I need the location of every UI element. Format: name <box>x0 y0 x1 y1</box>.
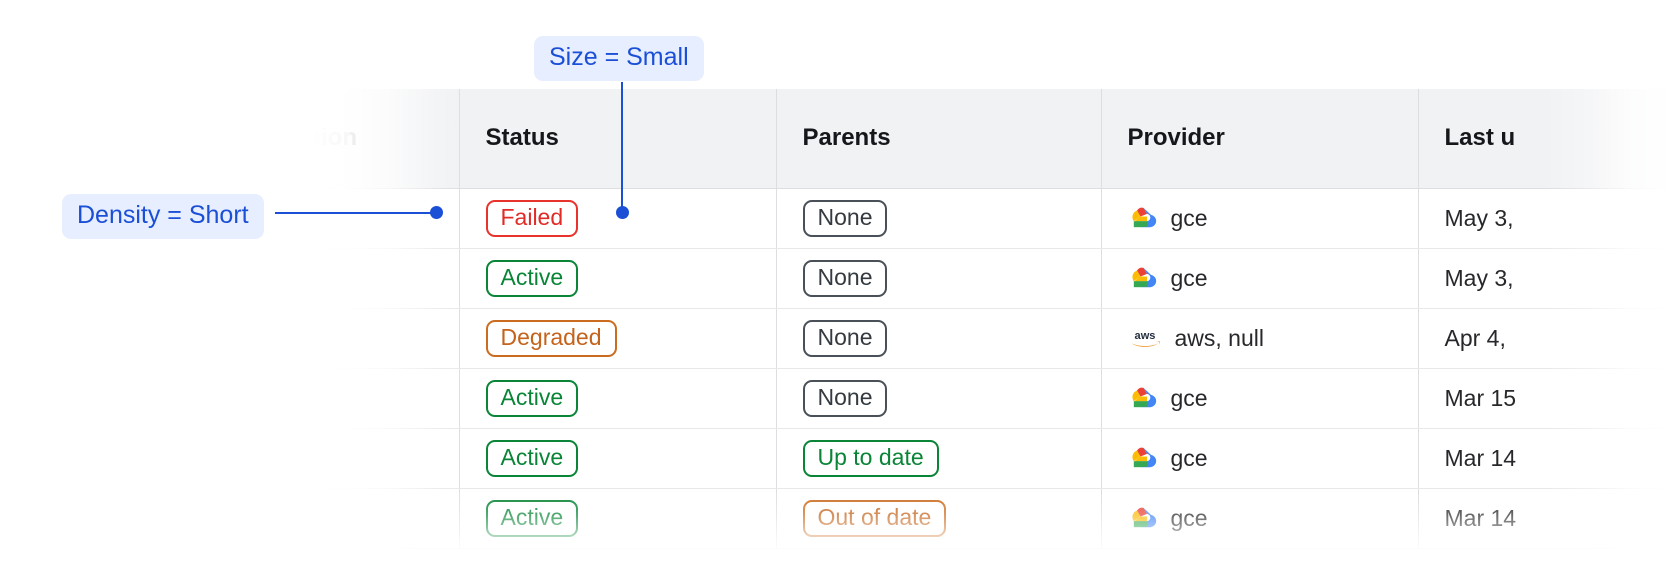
column-header-last-updated[interactable]: Last u <box>1418 89 1672 188</box>
google-cloud-icon <box>1128 265 1158 291</box>
table-row[interactable]: Failed None <box>313 188 1672 248</box>
annotation-density-leader-line <box>275 212 433 214</box>
annotation-size-label: Size = Small <box>534 36 704 81</box>
cell-parents: Out of date <box>776 488 1101 548</box>
cell-provider: gce <box>1101 488 1418 548</box>
parents-badge: Out of date <box>803 500 947 537</box>
cell-last-updated: May 3, <box>1418 188 1672 248</box>
table-row[interactable]: Active None <box>313 368 1672 428</box>
resources-table: tion Status Parents Provider Last u Fail… <box>313 89 1672 549</box>
google-cloud-icon <box>1128 205 1158 231</box>
cell-name <box>313 488 459 548</box>
cell-last-updated: Apr 4, <box>1418 308 1672 368</box>
cell-name <box>313 248 459 308</box>
cell-last-updated: Mar 15 <box>1418 368 1672 428</box>
left-white-mask <box>0 0 313 564</box>
last-updated-value: May 3, <box>1445 265 1514 291</box>
provider-label: gce <box>1171 505 1208 532</box>
column-header-name[interactable]: tion <box>313 89 459 188</box>
column-header-status[interactable]: Status <box>459 89 776 188</box>
top-white-mask <box>0 0 1672 89</box>
cell-provider: aws aws, null <box>1101 308 1418 368</box>
column-header-parents[interactable]: Parents <box>776 89 1101 188</box>
cell-parents: None <box>776 248 1101 308</box>
annotation-density-label: Density = Short <box>62 194 264 239</box>
status-badge: Active <box>486 500 579 537</box>
cell-name <box>313 428 459 488</box>
provider-label: aws, null <box>1175 325 1264 352</box>
provider-label: gce <box>1171 205 1208 232</box>
annotation-size-leader-line <box>621 82 623 208</box>
status-badge: Degraded <box>486 320 617 357</box>
google-cloud-icon <box>1128 445 1158 471</box>
cell-name <box>313 368 459 428</box>
provider-label: gce <box>1171 385 1208 412</box>
cell-status: Active <box>459 428 776 488</box>
parents-badge: None <box>803 200 888 237</box>
cell-status: Active <box>459 368 776 428</box>
column-header-provider[interactable]: Provider <box>1101 89 1418 188</box>
parents-badge: None <box>803 260 888 297</box>
cell-status: Active <box>459 488 776 548</box>
status-badge: Failed <box>486 200 579 237</box>
cell-name <box>313 308 459 368</box>
last-updated-value: Mar 14 <box>1445 445 1517 471</box>
data-table-viewport[interactable]: tion Status Parents Provider Last u Fail… <box>313 89 1672 564</box>
last-updated-value: Mar 14 <box>1445 505 1517 531</box>
status-badge: Active <box>486 440 579 477</box>
table-row[interactable]: Degraded None aws aws, null <box>313 308 1672 368</box>
parents-badge: None <box>803 320 888 357</box>
cell-provider: gce <box>1101 428 1418 488</box>
provider-label: gce <box>1171 265 1208 292</box>
google-cloud-icon <box>1128 505 1158 531</box>
cell-parents: None <box>776 368 1101 428</box>
cell-provider: gce <box>1101 368 1418 428</box>
aws-icon: aws <box>1128 325 1162 351</box>
table-row[interactable]: Active None <box>313 248 1672 308</box>
last-updated-value: May 3, <box>1445 205 1514 231</box>
cell-parents: None <box>776 188 1101 248</box>
cell-status: Degraded <box>459 308 776 368</box>
annotation-size-anchor-dot <box>616 206 629 219</box>
cell-last-updated: May 3, <box>1418 248 1672 308</box>
cell-status: Failed <box>459 188 776 248</box>
table-row[interactable]: Active Up to date <box>313 428 1672 488</box>
provider-label: gce <box>1171 445 1208 472</box>
cell-provider: gce <box>1101 188 1418 248</box>
cell-last-updated: Mar 14 <box>1418 488 1672 548</box>
cell-parents: None <box>776 308 1101 368</box>
annotation-density-anchor-dot <box>430 206 443 219</box>
table-header-row: tion Status Parents Provider Last u <box>313 89 1672 188</box>
table-row[interactable]: Active Out of date <box>313 488 1672 548</box>
svg-text:aws: aws <box>1134 330 1155 342</box>
last-updated-value: Apr 4, <box>1445 325 1506 351</box>
table-body: Failed None <box>313 188 1672 548</box>
last-updated-value: Mar 15 <box>1445 385 1517 411</box>
table-header: tion Status Parents Provider Last u <box>313 89 1672 188</box>
cell-status: Active <box>459 248 776 308</box>
cell-parents: Up to date <box>776 428 1101 488</box>
status-badge: Active <box>486 260 579 297</box>
cell-provider: gce <box>1101 248 1418 308</box>
cell-last-updated: Mar 14 <box>1418 428 1672 488</box>
parents-badge: Up to date <box>803 440 939 477</box>
google-cloud-icon <box>1128 385 1158 411</box>
annotated-table-screenshot: tion Status Parents Provider Last u Fail… <box>0 0 1672 564</box>
status-badge: Active <box>486 380 579 417</box>
parents-badge: None <box>803 380 888 417</box>
